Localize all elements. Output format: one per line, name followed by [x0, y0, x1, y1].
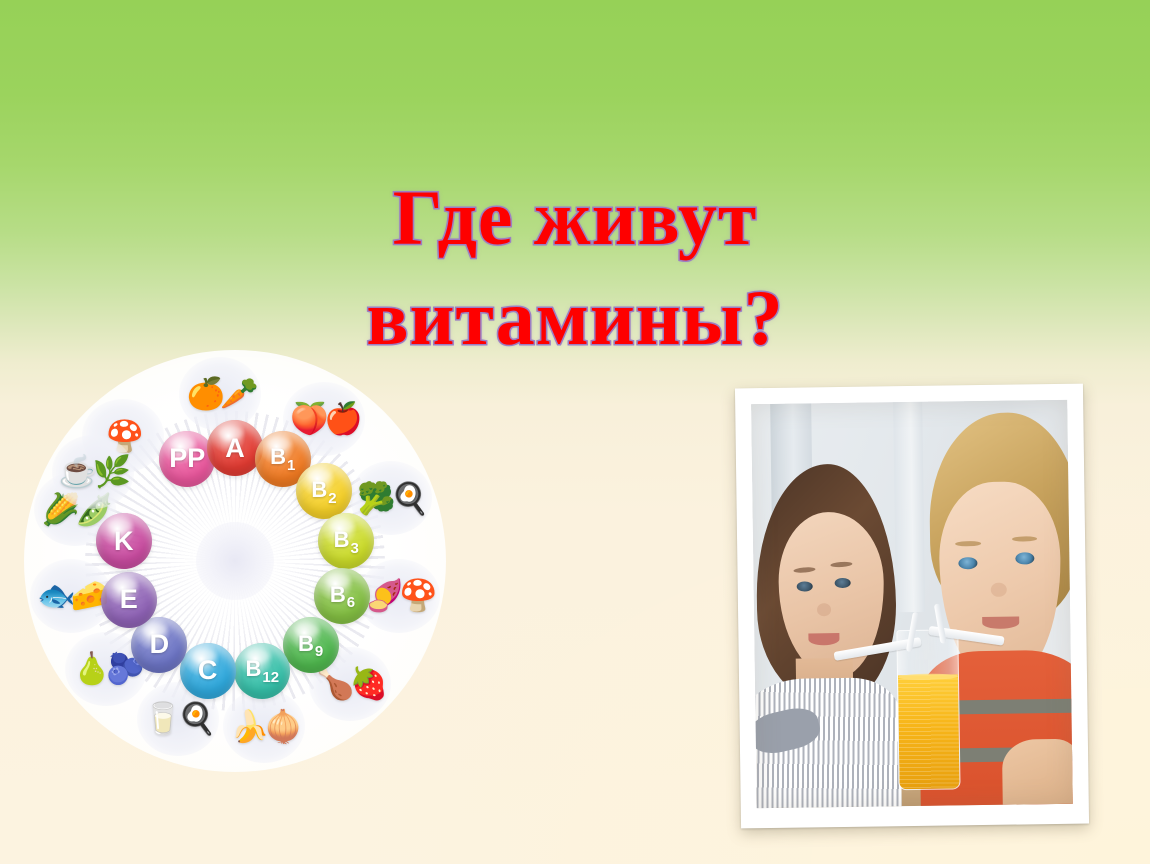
vitamin-label: E	[120, 584, 138, 615]
girl-eye-right	[834, 577, 851, 588]
food-icon-tea-cup-with-mint: ☕🌿	[52, 435, 134, 509]
food-icon-orange-and-carrot: 🍊🥕	[179, 357, 261, 431]
vitamin-label: K	[114, 526, 134, 557]
food-glyph: 🐟🧀	[37, 580, 104, 611]
photo-frame	[735, 384, 1089, 829]
title-line-1: Где живут	[0, 178, 1150, 258]
food-glyph: ☕🌿	[59, 456, 126, 487]
vitamin-bubble-c: C	[180, 643, 236, 699]
boy-eye-left	[959, 557, 978, 569]
vitamin-label: B2	[311, 477, 336, 505]
vitamin-subscript: 9	[315, 643, 323, 660]
food-glyph: 🍐🫐	[73, 653, 140, 684]
title-line-2: витамины?	[0, 278, 1150, 358]
vitamin-label: C	[198, 655, 218, 686]
vitamin-bubble-b6: B6	[314, 568, 370, 624]
food-icon-banana-and-onion: 🍌🧅	[223, 689, 305, 763]
vitamin-bubble-b9: B9	[283, 617, 339, 673]
vitamin-bubble-b2: B2	[296, 463, 352, 519]
boy-arm	[1002, 739, 1072, 805]
orange-juice	[898, 675, 960, 789]
vitamin-label: B1	[270, 444, 295, 472]
vitamin-bubble-b12: B12	[234, 643, 290, 699]
vitamin-subscript: 2	[328, 490, 336, 507]
vitamin-label: B6	[330, 582, 355, 610]
vitamin-bubble-pp: PP	[159, 431, 215, 487]
wheel-center-core	[196, 522, 274, 600]
children-drinking-juice-photo	[751, 400, 1073, 808]
vitamin-label: B12	[246, 656, 280, 684]
slide-canvas: Где живут витамины? 🍄🍊🥕🍑🍎🥦🍳🍠🍄🍗🍓🍌🧅🥛🍳🍐🫐🐟🧀🌽…	[0, 0, 1150, 864]
page-title: Где живут витамины?	[0, 178, 1150, 357]
vitamin-label: D	[150, 629, 170, 660]
vitamin-label: A	[225, 433, 245, 464]
vitamin-bubble-b3: B3	[318, 513, 374, 569]
boy-eye-right	[1016, 552, 1035, 564]
boy-nose	[991, 582, 1007, 596]
vitamin-bubble-k: K	[96, 513, 152, 569]
vitamin-bubble-e: E	[101, 572, 157, 628]
vitamin-label: B9	[298, 631, 323, 659]
food-glyph: 🥦🍳	[357, 483, 424, 514]
vitamin-subscript: 12	[262, 669, 279, 686]
food-glyph: 🍗🍓	[316, 668, 383, 699]
food-icon-beet-and-mushroom: 🍠🍄	[358, 559, 440, 633]
food-glyph: 🍠🍄	[366, 580, 433, 611]
food-icon-fish-and-cheese: 🐟🧀	[30, 559, 112, 633]
vitamin-bubble-a: A	[207, 420, 263, 476]
food-glyph: 🍊🥕	[187, 378, 254, 409]
vitamin-subscript: 3	[351, 540, 359, 557]
juice-glass	[897, 630, 961, 790]
vitamin-subscript: 6	[347, 594, 355, 611]
vitamin-subscript: 1	[287, 457, 295, 474]
food-glyph: 🍑🍎	[290, 403, 357, 434]
food-glyph: 🍌🧅	[231, 711, 298, 742]
vitamin-label: PP	[169, 443, 205, 474]
vitamin-wheel-illustration: 🍄🍊🥕🍑🍎🥦🍳🍠🍄🍗🍓🍌🧅🥛🍳🍐🫐🐟🧀🌽🫛☕🌿 PPAB1B2B3B6B9B12…	[36, 362, 434, 760]
food-glyph: 🥛🍳	[144, 703, 211, 734]
photo-window-right	[893, 402, 924, 612]
vitamin-label: B3	[334, 527, 359, 555]
